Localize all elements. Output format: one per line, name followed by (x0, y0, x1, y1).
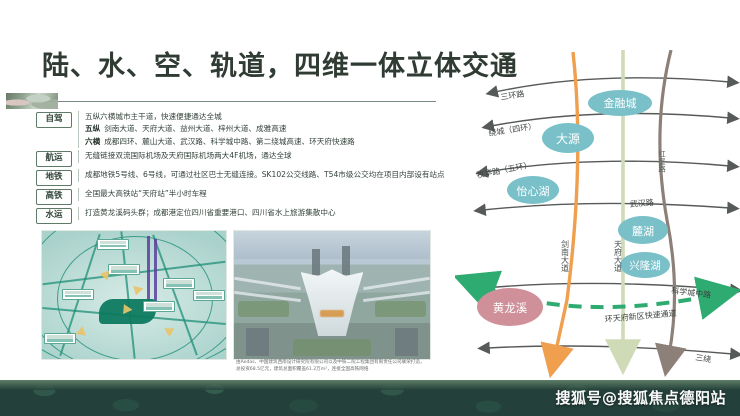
info-row-body: 五纵六横城市主干道，快速便捷通达全城 五纵剑南大道、天府大道、益州大道、梓州大道… (78, 111, 456, 148)
ring-label-5th: 牧华路（五环） (475, 159, 532, 180)
tag-air: 航运 (36, 151, 72, 167)
green-space (293, 339, 371, 357)
info-row-self-drive: 自驾 五纵六横城市主干道，快速便捷通达全城 五纵剑南大道、天府大道、益州大道、梓… (36, 111, 456, 148)
green-space (375, 301, 426, 316)
transport-info-list: 自驾 五纵六横城市主干道，快速便捷通达全城 五纵剑南大道、天府大道、益州大道、梓… (36, 111, 456, 226)
info-row-body: 成都地铁5号线、6号线，可通过社区巴士无缝连接。SK102公交线路、T54市级公… (78, 169, 456, 181)
block-building (395, 328, 419, 356)
road-line (234, 291, 300, 302)
ring-road-3rd (495, 78, 730, 92)
rail-station-render-image (233, 230, 431, 360)
metro-line (154, 239, 157, 308)
info-row-metro: 地铁 成都地铁5号线、6号线，可通过社区巴士无缝连接。SK102公交线路、T54… (36, 169, 456, 186)
avenue-label-tianfu: 天府大道 (614, 240, 623, 273)
tag-metro: 地铁 (36, 170, 72, 186)
map-callout (62, 289, 94, 300)
avenue-label-jiannan: 剑南大道 (561, 239, 570, 273)
info-line: 全国最大高铁站“天府站”半小时车程 (85, 188, 456, 200)
district-label-jinrongcheng: 金融城 (604, 96, 637, 110)
slide-root: 陆、水、空、轨道，四维一体立体交通 自驾 五纵六横城市主干道，快速便捷通达全城 … (0, 0, 740, 416)
info-row-highspeed-rail: 高铁 全国最大高铁站“天府站”半小时车程 (36, 188, 456, 205)
map-callout (193, 290, 225, 301)
map-callout (97, 239, 129, 250)
ring-road-wuhan (483, 203, 730, 210)
caption-line-2: 总投资68.5亿元，建筑总面积覆盖61.2万m²，连接全国高铁网络 (236, 366, 446, 373)
info-line: 成都地铁5号线、6号线，可通过社区巴士无缝连接。SK102公交线路、T54市级公… (85, 169, 456, 181)
map-callout (44, 333, 76, 344)
ring-label-4th: 绕城（四环） (488, 121, 537, 138)
district-label-yixinhu: 怡心湖 (517, 184, 550, 198)
aerial-render-illustration (234, 231, 430, 359)
avenue-label-hongxing: 红星路 (657, 149, 666, 173)
direction-arrow (123, 304, 133, 315)
transport-schematic-map: 金融城 大源 怡心湖 麓湖 兴隆湖 黄龙溪 三环路 绕城（四环） 牧华路（五环）… (455, 50, 740, 380)
info-line-lead: 六横 (85, 137, 100, 146)
road-network-map-image (41, 230, 227, 360)
info-line: 五纵六横城市主干道，快速便捷通达全城 (85, 111, 456, 123)
tower-building (312, 249, 320, 275)
info-row-air: 航运 无缝链接双流国际机场及天府国际机场两大4F机场，通达全球 (36, 150, 456, 167)
station-terminal (301, 269, 364, 336)
title-divider (36, 101, 436, 102)
district-label-huanglongxi: 黄龙溪 (493, 301, 528, 315)
tower-building (342, 246, 350, 274)
info-row-body: 无缝链接双流国际机场及天府国际机场两大4F机场，通达全球 (78, 150, 456, 162)
watermark-text: 搜狐号@搜狐焦点德阳站 (555, 387, 726, 408)
highlight-route-label: 环天府新区快速通道 (604, 308, 677, 324)
sky-region (234, 231, 430, 259)
info-row-body: 打造黄龙溪码头群；成都港定位四川省重要港口、四川省水上旅游集散中心 (78, 207, 456, 219)
info-row-waterway: 水运 打造黄龙溪码头群；成都港定位四川省重要港口、四川省水上旅游集散中心 (36, 207, 456, 224)
block-building (246, 328, 270, 356)
road-network-illustration (42, 231, 226, 359)
avenue-jiannan-line (555, 52, 578, 355)
divider-decoration-image (6, 93, 58, 109)
info-row-body: 全国最大高铁站“天府站”半小时车程 (78, 188, 456, 200)
info-line-lead: 五纵 (85, 124, 100, 133)
map-callout (108, 264, 140, 275)
info-line: 六横成都四环、麓山大道、武汉路、科学城中路、第二绕城高速、环天府快速路 (85, 136, 456, 148)
schematic-svg: 金融城 大源 怡心湖 麓湖 兴隆湖 黄龙溪 三环路 绕城（四环） 牧华路（五环）… (455, 50, 740, 380)
district-label-xinglonghu: 兴隆湖 (629, 259, 661, 272)
terminal-entrance-light (320, 310, 344, 316)
green-space (238, 301, 289, 316)
map-callout (163, 278, 195, 289)
caption-line-1: 由Aedas、中国建筑西南设计研究院有限公司以及中铁二院工程集团有限责任公司联荣… (236, 359, 446, 366)
ring-label-3rd-outer: 三绕 (695, 352, 712, 364)
info-line: 无缝链接双流国际机场及天府国际机场两大4F机场，通达全球 (85, 150, 456, 162)
district-label-luhu: 麓湖 (632, 225, 654, 238)
page-title: 陆、水、空、轨道，四维一体立体交通 (42, 44, 518, 83)
road-line (363, 291, 429, 302)
info-line: 打造黄龙溪码头群；成都港定位四川省重要港口、四川省水上旅游集散中心 (85, 207, 456, 219)
tag-waterway: 水运 (36, 208, 72, 224)
render-caption: 由Aedas、中国建筑西南设计研究院有限公司以及中铁二院工程集团有限责任公司联荣… (236, 359, 446, 373)
info-line: 五纵剑南大道、天府大道、益州大道、梓州大道、成雅高速 (85, 123, 456, 135)
tag-highspeed-rail: 高铁 (36, 189, 72, 205)
road-line (364, 277, 430, 290)
map-callout (143, 301, 175, 312)
tag-self-drive: 自驾 (36, 112, 72, 128)
ring-label-wuhan: 武汉路 (629, 197, 654, 209)
district-label-dayuan: 大源 (556, 132, 580, 146)
road-line (234, 277, 300, 290)
